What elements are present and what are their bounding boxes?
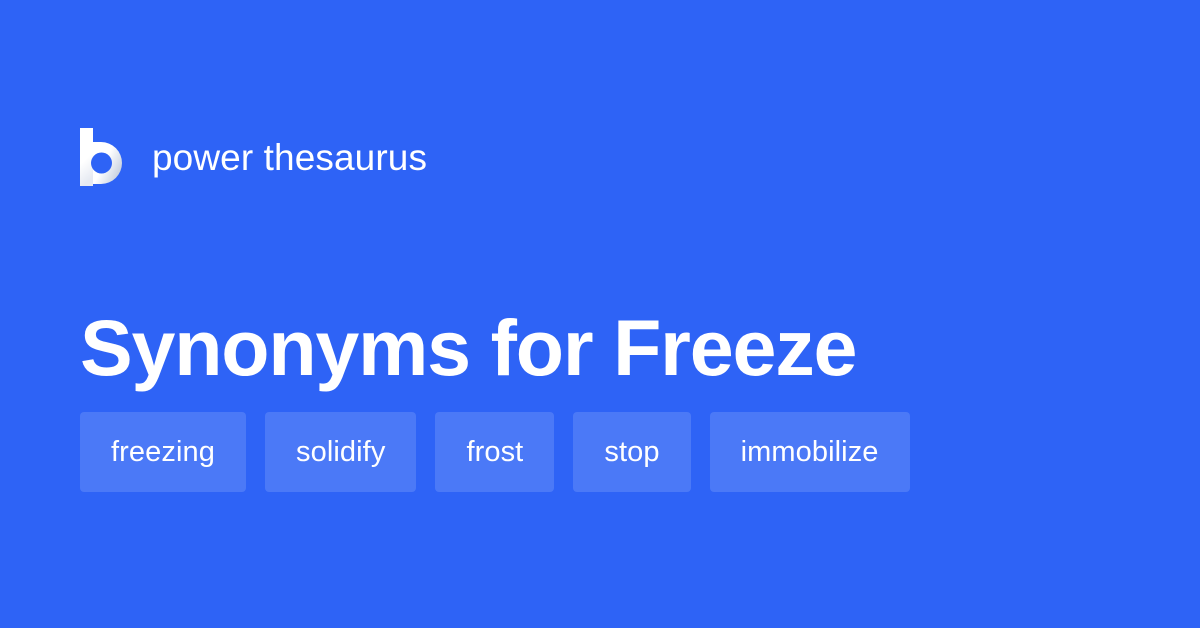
synonym-chip[interactable]: freezing xyxy=(80,412,246,492)
power-thesaurus-b-logo-icon xyxy=(80,128,124,186)
brand-lockup[interactable]: power thesaurus xyxy=(80,126,427,188)
share-card: power thesaurus Synonyms for Freeze free… xyxy=(0,0,1200,628)
synonym-chip-list: freezing solidify frost stop immobilize xyxy=(80,412,1140,492)
page-title: Synonyms for Freeze xyxy=(80,301,1140,395)
synonym-chip[interactable]: frost xyxy=(435,412,554,492)
synonym-chip[interactable]: immobilize xyxy=(710,412,910,492)
brand-name: power thesaurus xyxy=(152,139,427,176)
synonym-chip[interactable]: solidify xyxy=(265,412,416,492)
synonym-chip[interactable]: stop xyxy=(573,412,690,492)
